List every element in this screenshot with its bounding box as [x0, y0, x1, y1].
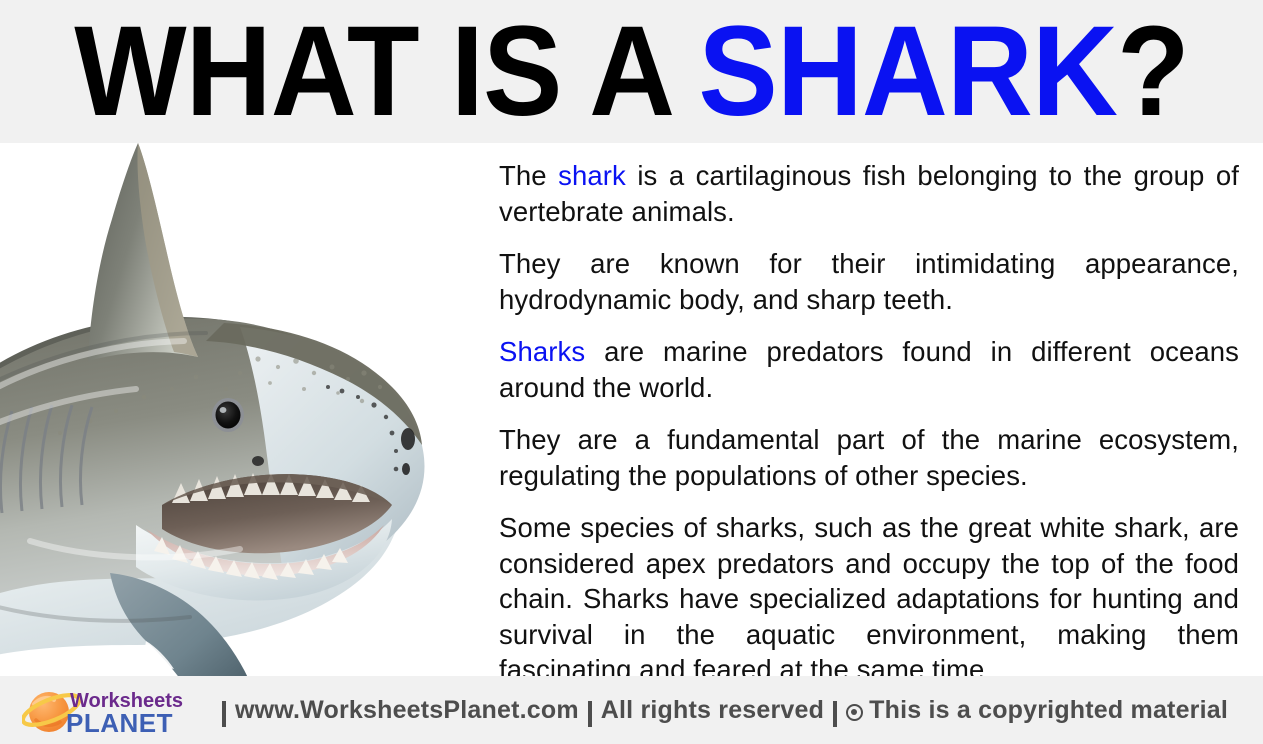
logo-word-bottom: PLANET	[66, 708, 173, 738]
p1-highlight-shark: shark	[558, 160, 626, 191]
paragraph-2: They are known for their intimidating ap…	[499, 246, 1239, 317]
shark-upper-gum	[162, 474, 392, 505]
shark-highlights	[0, 341, 240, 557]
shark-upper-teeth	[172, 473, 370, 503]
footer-rights: All rights reserved	[601, 696, 824, 725]
shark-lower-teeth	[154, 537, 348, 580]
paragraph-4: They are a fundamental part of the marin…	[499, 422, 1239, 493]
article-body: The shark is a cartilaginous fish belong…	[499, 158, 1239, 670]
shark-speckles	[58, 356, 382, 435]
shark-back	[0, 317, 388, 591]
copyright-icon	[846, 704, 863, 721]
shark-lower-gum	[146, 525, 384, 576]
paragraph-5: Some species of sharks, such as the grea…	[499, 510, 1239, 688]
shark-snout	[240, 327, 425, 579]
shark-dorsal-fin-edge	[137, 143, 198, 357]
shark-ampullae-pores	[326, 385, 398, 471]
p3-highlight-sharks: Sharks	[499, 336, 585, 367]
logo-svg: Worksheets PLANET	[22, 682, 192, 738]
p2-seg-1: They are known for their intimidating ap…	[499, 248, 1239, 315]
shark-body	[0, 318, 413, 677]
shark-belly	[0, 473, 400, 707]
page-title-highlight: SHARK	[698, 8, 1117, 136]
page-title-main: WHAT IS A	[74, 8, 674, 136]
divider-3	[833, 701, 837, 727]
shark-illustration-svg	[0, 121, 510, 701]
page-title: WHAT IS ASHARK?	[44, 0, 1219, 143]
shark-image	[0, 143, 492, 676]
p5-seg-1: Some species of sharks, such as the grea…	[499, 512, 1239, 685]
shark-lower-jaw	[136, 519, 392, 600]
worksheets-planet-logo[interactable]: Worksheets PLANET	[22, 682, 192, 738]
shark-mouth	[162, 474, 392, 553]
footer-website[interactable]: www.WorksheetsPlanet.com	[235, 696, 579, 725]
divider-2	[588, 701, 592, 727]
shark-gills	[0, 405, 92, 513]
worksheet-page: WHAT IS ASHARK?	[0, 0, 1263, 744]
page-title-question-mark: ?	[1117, 8, 1189, 136]
shark-pectoral-fin-notch	[144, 641, 174, 669]
p4-seg-1: They are a fundamental part of the marin…	[499, 424, 1239, 491]
shark-side-spots	[401, 428, 415, 475]
shark-head-dark-band	[206, 323, 422, 445]
shark-nostril	[252, 456, 264, 466]
paragraph-3: Sharks are marine predators found in dif…	[499, 334, 1239, 405]
shark-eye	[212, 398, 244, 432]
p1-seg-1: The	[499, 160, 558, 191]
paragraph-1: The shark is a cartilaginous fish belong…	[499, 158, 1239, 229]
divider-1	[222, 701, 226, 727]
footer-credits: www.WorksheetsPlanet.com All rights rese…	[192, 696, 1263, 725]
header-band: WHAT IS ASHARK?	[0, 0, 1263, 143]
footer-bar: Worksheets PLANET www.WorksheetsPlanet.c…	[0, 676, 1263, 744]
footer-copyright-note: This is a copyrighted material	[869, 696, 1228, 725]
p3-seg-2: are marine predators found in different …	[499, 336, 1239, 403]
shark-shadow-lines	[0, 333, 206, 621]
shark-dorsal-fin	[88, 143, 198, 361]
